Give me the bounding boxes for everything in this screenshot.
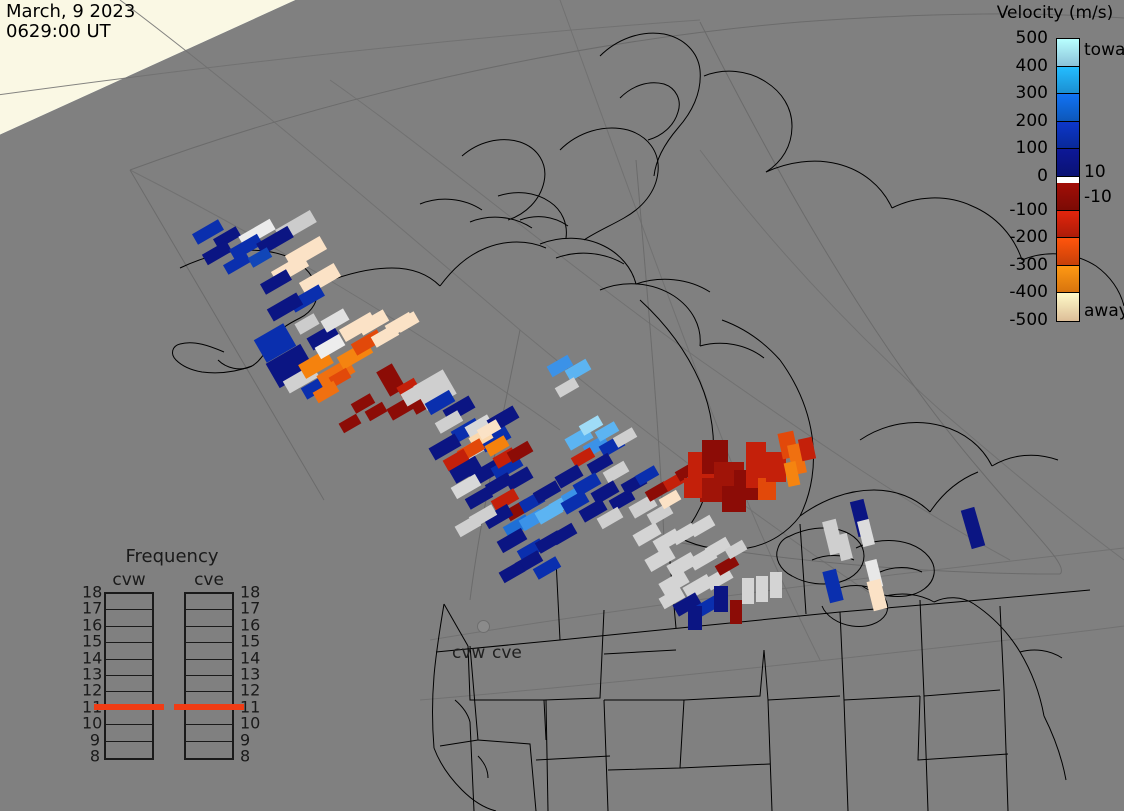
frequency-row [106,594,152,610]
timestamp-label: March, 9 2023 0629:00 UT [6,2,135,42]
frequency-row [186,725,232,741]
frequency-marker-cve [174,704,244,710]
frequency-row [186,627,232,643]
frequency-tick-label-right: 8 [240,747,250,766]
radar-cell [714,586,728,612]
radar-cell [551,523,578,545]
frequency-row [186,709,232,725]
radar-cell [688,606,702,630]
radar-cell [455,515,482,537]
radar-cell [770,572,782,598]
frequency-row [186,676,232,692]
frequency-row [106,742,152,758]
velocity-tick-label: -200 [1009,227,1048,247]
radar-site-label-cvw: cvw [452,643,485,663]
frequency-row [186,742,232,758]
velocity-swatch [1057,293,1079,321]
frequency-bar-cve [184,592,234,760]
radar-cell [499,561,526,583]
radar-site-marker [477,620,490,633]
radar-cell [294,313,319,334]
radar-cell [700,478,722,502]
frequency-row [186,660,232,676]
velocity-tick-label: -100 [1009,200,1048,220]
radar-cell [555,377,580,398]
velocity-swatch [1057,122,1079,150]
velocity-swatch [1057,39,1079,67]
velocity-tick-label: 400 [1016,56,1048,76]
velocity-swatch [1057,67,1079,95]
radar-cell [857,519,875,547]
velocity-swatch [1057,238,1079,266]
velocity-away-label: away [1084,301,1124,321]
velocity-swatch [1057,149,1079,177]
velocity-toward-label: toward [1084,40,1124,60]
radar-cell [835,533,853,561]
radar-cell [961,507,985,549]
velocity-swatch [1057,94,1079,122]
velocity-swatch [1057,211,1079,239]
radar-cell [822,569,843,603]
frequency-marker-cvw [94,704,164,710]
velocity-negative-threshold-label: -10 [1084,187,1112,207]
frequency-row [106,709,152,725]
radar-cell [689,515,716,537]
frequency-row [106,627,152,643]
velocity-tick-label: 200 [1016,111,1048,131]
radar-cell [746,442,766,464]
frequency-column-header-cve: cve [184,570,234,590]
velocity-colorbar-ticks: 5004003002001000-100-200-300-400-500 [978,38,1048,322]
radar-cell [742,578,754,604]
radar-site-label-cve: cve [492,643,522,663]
velocity-tick-label: 0 [1037,166,1048,186]
velocity-swatch [1057,266,1079,294]
frequency-bar-cvw [104,592,154,760]
velocity-positive-threshold-label: 10 [1084,162,1106,182]
frequency-row [106,610,152,626]
radar-cell [730,600,742,624]
frequency-legend-title: Frequency [82,546,262,567]
radar-cell [267,292,303,321]
frequency-row [106,725,152,741]
frequency-row [106,676,152,692]
velocity-swatch [1057,183,1079,211]
frequency-row [106,660,152,676]
radar-cell [223,252,251,275]
velocity-colorbar: Velocity (m/s) 5004003002001000-100-200-… [978,0,1124,340]
frequency-legend: Frequency cvw cve 18171615141312111098 1… [82,546,262,778]
velocity-tick-label: 300 [1016,83,1048,103]
velocity-tick-label: 100 [1016,138,1048,158]
radar-map-canvas: cvwcve March, 9 2023 0629:00 UT Velocity… [0,0,1124,811]
velocity-tick-label: 500 [1016,28,1048,48]
radar-cell [394,311,419,332]
velocity-colorbar-swatches [1056,38,1080,322]
velocity-tick-label: -500 [1009,310,1048,330]
radar-cell [684,478,702,498]
frequency-row [186,594,232,610]
radar-cell [867,579,888,611]
radar-cell [722,486,746,512]
velocity-tick-label: -300 [1009,255,1048,275]
velocity-tick-label: -400 [1009,282,1048,302]
radar-cell [756,576,768,602]
frequency-row [186,643,232,659]
frequency-column-header-cvw: cvw [104,570,154,590]
radar-cell [339,414,362,434]
frequency-row [186,610,232,626]
frequency-row [106,643,152,659]
frequency-tick-label-left: 8 [82,747,100,766]
velocity-colorbar-title: Velocity (m/s) [986,3,1124,23]
